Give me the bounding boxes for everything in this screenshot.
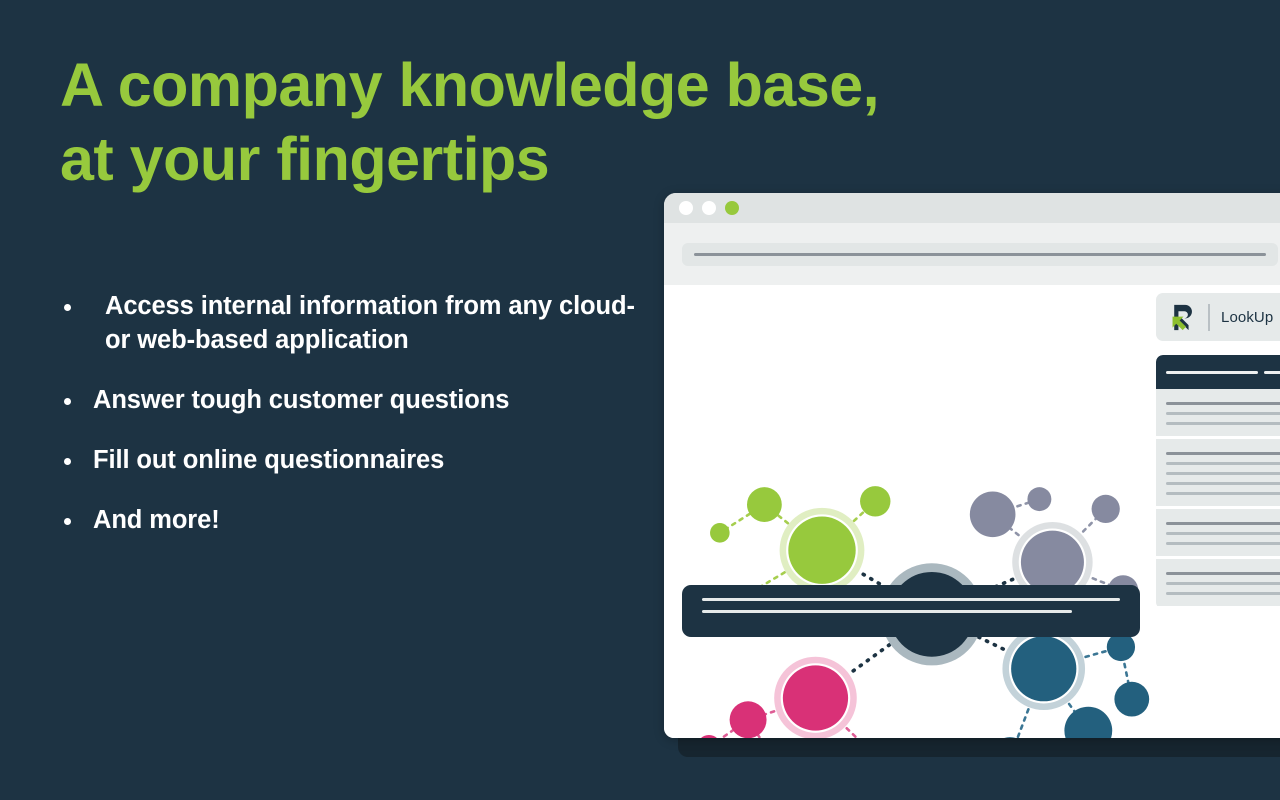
list-item: And more! xyxy=(58,504,638,538)
result-title-line xyxy=(1166,402,1280,405)
result-body-line xyxy=(1166,532,1280,535)
browser-window-mockup: LookUp xyxy=(664,193,1280,738)
address-bar-placeholder-line xyxy=(694,253,1266,256)
list-item: Access internal information from any clo… xyxy=(58,290,638,358)
browser-toolbar xyxy=(664,223,1280,285)
address-bar-input[interactable] xyxy=(682,243,1278,266)
list-item: Answer tough customer questions xyxy=(58,384,638,418)
list-item[interactable] xyxy=(1156,439,1280,506)
list-item-label: Fill out online questionnaires xyxy=(93,446,444,474)
teal-hub-node xyxy=(1011,636,1076,701)
feature-bullet-list: Access internal information from any clo… xyxy=(58,290,638,538)
results-header-line-2 xyxy=(1264,371,1280,374)
list-item: Fill out online questionnaires xyxy=(58,444,638,478)
browser-viewport: LookUp xyxy=(664,285,1280,738)
slide-canvas: A company knowledge base, at your finger… xyxy=(0,0,1280,800)
list-item[interactable] xyxy=(1156,559,1280,606)
lookup-side-panel: LookUp xyxy=(1156,285,1280,609)
search-placeholder-line-1 xyxy=(702,598,1120,601)
result-body-line xyxy=(1166,492,1280,495)
close-dot-icon[interactable] xyxy=(679,201,693,215)
logo-divider xyxy=(1208,304,1210,331)
list-item-label: And more! xyxy=(93,506,220,534)
pink-cluster-nodes xyxy=(697,657,904,738)
result-body-line xyxy=(1166,542,1280,545)
green-hub-node xyxy=(788,517,855,584)
results-header-line-1 xyxy=(1166,371,1258,374)
list-item-label: Access internal information from any clo… xyxy=(105,292,635,354)
lookup-app-name: LookUp xyxy=(1221,309,1273,326)
headline-block: A company knowledge base, at your finger… xyxy=(60,56,660,190)
headline-line-1: A company knowledge base, xyxy=(60,56,660,116)
bullet-dot-icon xyxy=(64,518,71,525)
list-item[interactable] xyxy=(1156,389,1280,436)
results-panel-header xyxy=(1156,355,1280,389)
result-body-line xyxy=(1166,482,1280,485)
browser-window-base-shadow xyxy=(678,735,1280,757)
page-title: A company knowledge base, at your finger… xyxy=(60,56,660,190)
result-title-line xyxy=(1166,522,1280,525)
result-title-line xyxy=(1166,452,1280,455)
result-title-line xyxy=(1166,572,1280,575)
search-results-panel xyxy=(1156,355,1280,609)
bullet-dot-icon xyxy=(64,304,71,311)
result-body-line xyxy=(1166,422,1280,425)
lookup-app-header[interactable]: LookUp xyxy=(1156,293,1280,341)
result-body-line xyxy=(1166,412,1280,415)
minimize-dot-icon[interactable] xyxy=(702,201,716,215)
result-body-line xyxy=(1166,592,1280,595)
result-body-line xyxy=(1166,472,1280,475)
bullet-dot-icon xyxy=(64,458,71,465)
search-placeholder-line-2 xyxy=(702,610,1072,613)
teal-cluster-nodes xyxy=(989,627,1149,738)
result-body-line xyxy=(1166,582,1280,585)
result-body-line xyxy=(1166,462,1280,465)
pink-hub-node xyxy=(783,665,848,730)
search-input[interactable] xyxy=(682,585,1140,637)
browser-titlebar xyxy=(664,193,1280,223)
headline-line-2: at your fingertips xyxy=(60,130,660,190)
list-item-label: Answer tough customer questions xyxy=(93,386,509,414)
bullet-dot-icon xyxy=(64,398,71,405)
maximize-dot-icon[interactable] xyxy=(725,201,739,215)
lookup-r-arrow-logo-icon xyxy=(1170,303,1197,332)
list-item[interactable] xyxy=(1156,509,1280,556)
